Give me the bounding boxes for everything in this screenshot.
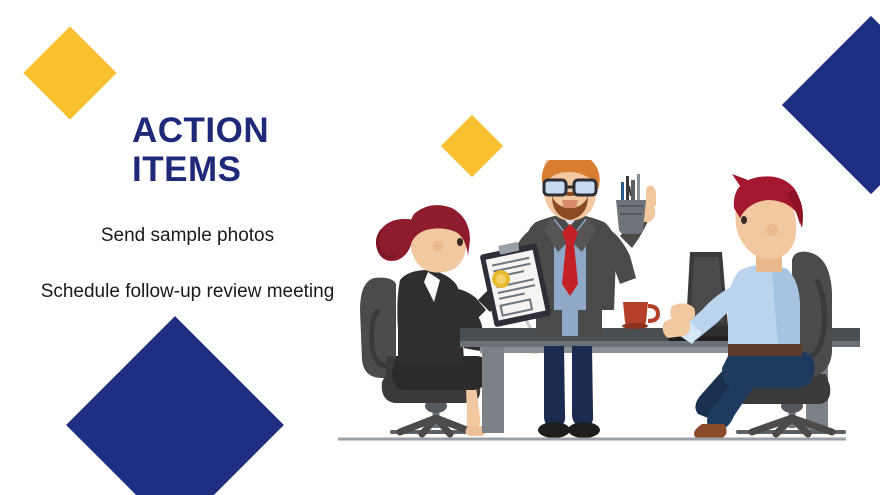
- list-item: Send sample photos: [0, 223, 375, 249]
- pointing-finger: [646, 186, 656, 206]
- diamond-yellow-top-left: [23, 26, 116, 119]
- meeting-illustration: [330, 160, 860, 450]
- text-block: ACTION ITEMS Send sample photos Schedule…: [0, 112, 375, 304]
- coffee-mug: [622, 302, 658, 329]
- pen-holder: [616, 174, 646, 234]
- bullet-list: Send sample photos Schedule follow-up re…: [0, 223, 375, 304]
- diamond-blue-bottom-left: [66, 316, 284, 495]
- slide-canvas: ACTION ITEMS Send sample photos Schedule…: [0, 0, 880, 495]
- page-title: ACTION ITEMS: [0, 112, 375, 189]
- list-item: Schedule follow-up review meeting: [0, 279, 375, 305]
